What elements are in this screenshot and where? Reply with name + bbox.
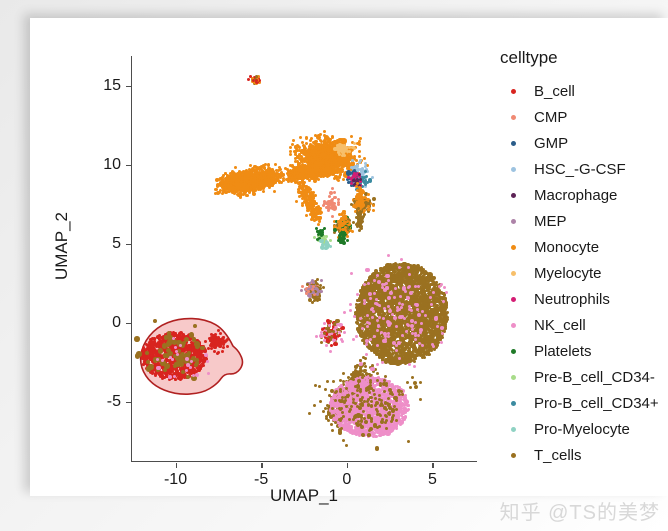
scatter-point bbox=[316, 206, 319, 209]
scatter-point bbox=[331, 136, 334, 139]
scatter-point bbox=[317, 223, 320, 226]
scatter-point bbox=[240, 178, 243, 181]
scatter-point bbox=[276, 177, 279, 180]
scatter-point bbox=[331, 141, 334, 144]
scatter-point bbox=[303, 158, 306, 161]
scatter-point bbox=[239, 189, 242, 192]
scatter-point bbox=[243, 182, 246, 185]
scatter-point bbox=[260, 177, 263, 180]
scatter-point bbox=[348, 156, 351, 159]
scatter-point bbox=[256, 183, 259, 186]
scatter-point bbox=[317, 178, 320, 181]
scatter-point bbox=[268, 180, 272, 184]
scatter-point bbox=[342, 178, 345, 181]
scatter-point bbox=[336, 178, 339, 181]
scatter-point bbox=[334, 175, 337, 178]
scatter-point bbox=[229, 187, 232, 190]
scatter-point bbox=[338, 138, 341, 141]
scatter-point bbox=[301, 202, 304, 205]
scatter-point bbox=[339, 171, 342, 174]
scatter-point bbox=[301, 187, 304, 190]
scatter-point bbox=[226, 174, 229, 177]
scatter-point bbox=[274, 163, 277, 166]
scatter-point bbox=[319, 172, 322, 175]
scatter-point bbox=[272, 182, 275, 185]
scatter-point bbox=[304, 197, 307, 200]
scatter-point bbox=[326, 156, 329, 159]
scatter-point bbox=[298, 195, 301, 198]
scatter-point bbox=[330, 163, 333, 166]
scatter-point bbox=[249, 189, 252, 192]
scatter-point bbox=[278, 181, 281, 184]
scatter-point bbox=[245, 186, 248, 189]
scatter-point bbox=[262, 190, 265, 193]
scatter-point bbox=[275, 172, 278, 175]
scatter-point bbox=[322, 167, 325, 170]
scatter-point bbox=[325, 171, 328, 174]
b-cell-highlight-contour bbox=[131, 56, 477, 462]
scatter-point bbox=[305, 214, 308, 217]
scatter-point bbox=[246, 194, 249, 197]
scatter-point bbox=[249, 180, 252, 183]
scatter-point bbox=[308, 157, 311, 160]
scatter-point bbox=[304, 147, 307, 150]
scatter-point bbox=[215, 188, 218, 191]
scatter-point bbox=[316, 135, 319, 138]
plot-card: 151050-5 -10-505 UMAP_1 UMAP_2 celltype … bbox=[30, 18, 668, 496]
scatter-point bbox=[221, 192, 224, 195]
scatter-point bbox=[298, 175, 302, 179]
scatter-point bbox=[316, 175, 319, 178]
scatter-point bbox=[294, 146, 297, 149]
scatter-point bbox=[316, 158, 319, 161]
scatter-point bbox=[320, 161, 323, 164]
scatter-point bbox=[234, 166, 237, 169]
scatter-point bbox=[238, 193, 242, 197]
scatter-point bbox=[284, 167, 287, 170]
scatter-point bbox=[303, 176, 306, 179]
scatter-point bbox=[355, 159, 358, 162]
scatter-point bbox=[250, 176, 253, 179]
scatter-point bbox=[216, 185, 219, 188]
scatter-point bbox=[272, 177, 275, 180]
scatter-point bbox=[289, 150, 292, 153]
scatter-point bbox=[350, 135, 353, 138]
scatter-point bbox=[298, 146, 301, 149]
scatter-point bbox=[363, 157, 366, 160]
scatter-point bbox=[235, 186, 238, 189]
scatter-point bbox=[312, 145, 315, 148]
scatter-point bbox=[289, 146, 292, 149]
scatter-point bbox=[337, 157, 341, 161]
scatter-point bbox=[358, 150, 361, 153]
scatter-point bbox=[245, 179, 248, 182]
scatter-point bbox=[252, 179, 255, 182]
scatter-point bbox=[311, 176, 314, 179]
scatter-point bbox=[267, 169, 270, 172]
scatter-point bbox=[316, 169, 319, 172]
scatter-point bbox=[292, 139, 295, 142]
scatter-point bbox=[295, 200, 298, 203]
scatter-point bbox=[258, 166, 261, 169]
scatter-point bbox=[308, 187, 311, 190]
scatter-point bbox=[252, 190, 255, 193]
scatter-plot-panel bbox=[131, 56, 477, 462]
scatter-point bbox=[289, 153, 292, 156]
scatter-point bbox=[340, 162, 343, 165]
scatter-point bbox=[299, 136, 302, 139]
scatter-point bbox=[323, 130, 326, 133]
scatter-point bbox=[305, 137, 308, 140]
scatter-point bbox=[314, 194, 317, 197]
scatter-point bbox=[293, 172, 296, 175]
scatter-point bbox=[323, 174, 326, 177]
scatter-point bbox=[312, 151, 315, 154]
scatter-point bbox=[288, 171, 291, 174]
points-layer bbox=[131, 56, 477, 462]
scatter-point bbox=[331, 156, 334, 159]
scatter-point bbox=[262, 164, 265, 167]
scatter-point bbox=[315, 217, 318, 220]
scatter-point bbox=[254, 169, 257, 172]
scatter-point bbox=[358, 155, 361, 158]
scatter-point bbox=[264, 180, 267, 183]
scatter-point bbox=[305, 193, 308, 196]
scatter-point bbox=[323, 140, 326, 143]
umap-plot-screenshot: 151050-5 -10-505 UMAP_1 UMAP_2 celltype … bbox=[0, 0, 668, 531]
scatter-point bbox=[290, 180, 293, 183]
scatter-point bbox=[334, 171, 337, 174]
scatter-point bbox=[273, 190, 276, 193]
scatter-point bbox=[299, 191, 302, 194]
scatter-point bbox=[313, 179, 317, 183]
scatter-point bbox=[235, 180, 238, 183]
scatter-point bbox=[319, 212, 322, 215]
